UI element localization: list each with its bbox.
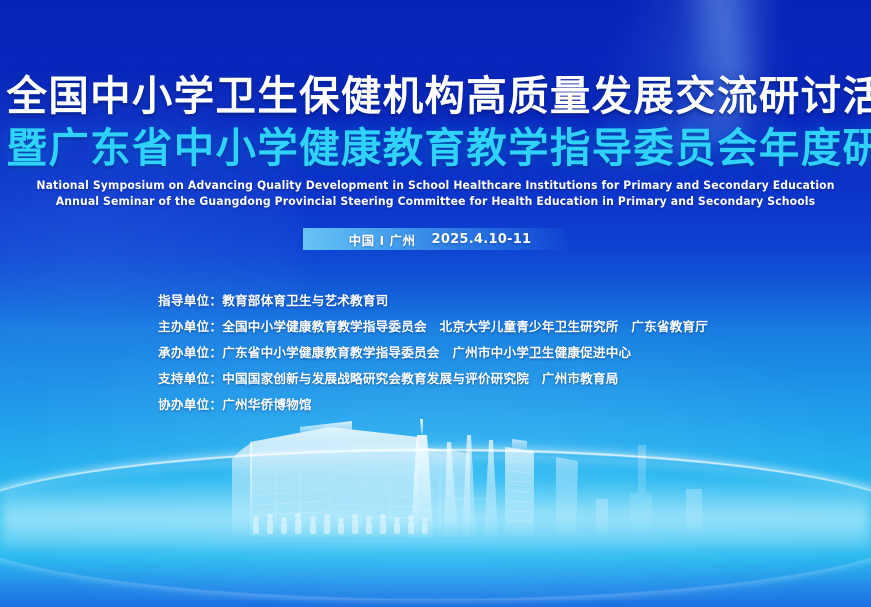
english-subtitle-block: National Symposium on Advancing Quality …: [0, 178, 871, 210]
organizer-row: 协办单位： 广州华侨博物馆: [158, 394, 708, 420]
organizer-value: 全国中小学健康教育教学指导委员会 北京大学儿童青少年卫生研究所 广东省教育厅: [222, 316, 708, 335]
organizer-value: 广州华侨博物馆: [222, 394, 311, 413]
ground-haze: [0, 479, 871, 549]
organizer-label: 承办单位：: [158, 342, 222, 361]
title-block: 全国中小学卫生保健机构高质量发展交流研讨活动 暨广东省中小学健康教育教学指导委员…: [0, 76, 871, 169]
twin-spire-tower: [444, 435, 498, 537]
organizer-value: 广东省中小学健康教育教学指导委员会 广州市中小学卫生健康促进中心: [222, 342, 631, 361]
organizer-label: 支持单位：: [158, 368, 222, 387]
right-tower-b: [686, 489, 702, 537]
organizer-label: 指导单位：: [158, 290, 222, 309]
right-tower-a: [630, 445, 652, 537]
organizer-row: 支持单位： 中国国家创新与发展战略研究会教育发展与评价研究院 广州市教育局: [158, 368, 708, 394]
title-line-2: 暨广东省中小学健康教育教学指导委员会年度研讨活动: [7, 128, 865, 169]
organizer-label: 协办单位：: [158, 394, 222, 413]
date-location-bar: 中国 I 广州 2025.4.10-11: [303, 228, 565, 250]
organizer-value: 中国国家创新与发展战略研究会教育发展与评价研究院 广州市教育局: [222, 368, 618, 387]
organizer-list: 指导单位： 教育部体育卫生与艺术教育司 主办单位： 全国中小学健康教育教学指导委…: [158, 290, 708, 420]
office-tower: [505, 439, 534, 537]
horizon-arc-glow: [0, 453, 871, 607]
students-group: [253, 513, 428, 534]
english-subtitle-line-2: Annual Seminar of the Guangdong Provinci…: [13, 194, 858, 210]
title-line-1: 全国中小学卫生保健机构高质量发展交流研讨活动: [7, 76, 865, 117]
organizer-row: 主办单位： 全国中小学健康教育教学指导委员会 北京大学儿童青少年卫生研究所 广东…: [158, 316, 708, 342]
location-text: 中国 I 广州: [349, 230, 416, 249]
conference-poster: 全国中小学卫生保健机构高质量发展交流研讨活动 暨广东省中小学健康教育教学指导委员…: [0, 0, 871, 607]
organizer-value: 教育部体育卫生与艺术教育司: [222, 290, 388, 309]
skyline-illustration: [0, 407, 871, 607]
school-building: [232, 421, 470, 537]
date-location-inner: 中国 I 广州 2025.4.10-11: [349, 230, 532, 249]
organizer-label: 主办单位：: [158, 316, 222, 335]
date-text: 2025.4.10-11: [432, 232, 532, 247]
organizer-row: 指导单位： 教育部体育卫生与艺术教育司: [158, 290, 708, 316]
canton-tower: [411, 419, 433, 537]
horizon-arc-line: [0, 449, 871, 599]
english-subtitle-line-1: National Symposium on Advancing Quality …: [13, 178, 858, 194]
ctf-tower: [556, 457, 578, 537]
organizer-row: 承办单位： 广东省中小学健康教育教学指导委员会 广州市中小学卫生健康促进中心: [158, 342, 708, 368]
far-tower-c: [596, 499, 608, 537]
